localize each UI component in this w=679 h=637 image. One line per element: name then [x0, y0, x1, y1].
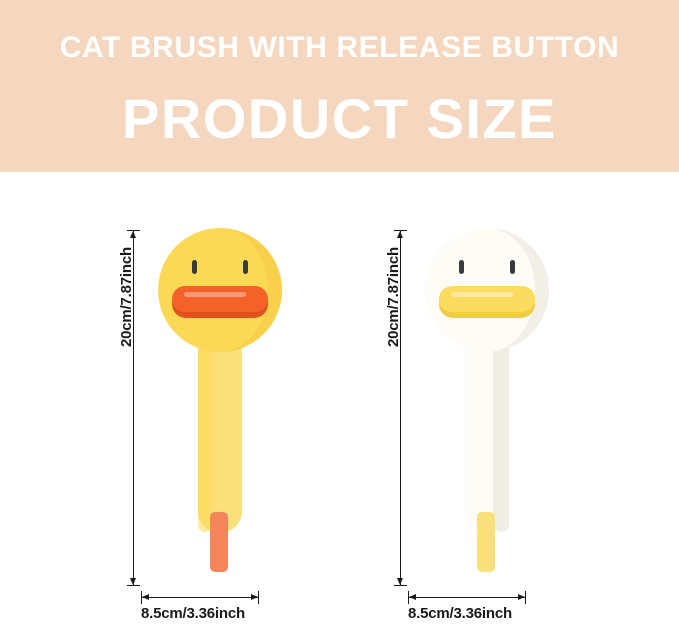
banner-subtitle: PRODUCT SIZE: [0, 87, 679, 151]
dimension-cap-right: [258, 591, 259, 604]
height-label-yellow: 20cm/7.87inch: [118, 247, 135, 347]
dimension-cap-right: [525, 591, 526, 604]
dimension-arrow-right: [518, 594, 525, 600]
product-yellow: 20cm/7.87inch: [40, 172, 340, 637]
dimension-cap-bottom: [127, 585, 140, 586]
brush-illustration-yellow: [140, 212, 300, 582]
brush-illustration-white: [407, 212, 567, 582]
width-label-white: 8.5cm/3.36inch: [408, 605, 512, 622]
height-label-white: 20cm/7.87inch: [385, 247, 402, 347]
dimension-cap-bottom: [394, 585, 407, 586]
width-dimension-line-yellow: [141, 597, 259, 598]
dimension-arrow-up: [397, 231, 403, 238]
width-label-yellow: 8.5cm/3.36inch: [141, 605, 245, 622]
width-dimension-line-white: [408, 597, 526, 598]
dimension-arrow-left: [142, 594, 149, 600]
content-area: 20cm/7.87inch: [0, 172, 679, 637]
dimension-arrow-down: [130, 578, 136, 585]
product-white: 20cm/7.87inch: [340, 172, 640, 637]
header-banner: CAT BRUSH WITH RELEASE BUTTON PRODUCT SI…: [0, 0, 679, 172]
dimension-arrow-left: [409, 594, 416, 600]
dimension-arrow-right: [251, 594, 258, 600]
dimension-arrow-up: [130, 231, 136, 238]
dimension-arrow-down: [397, 578, 403, 585]
banner-title: CAT BRUSH WITH RELEASE BUTTON: [0, 28, 679, 68]
product-size-infographic: CAT BRUSH WITH RELEASE BUTTON PRODUCT SI…: [0, 0, 679, 637]
